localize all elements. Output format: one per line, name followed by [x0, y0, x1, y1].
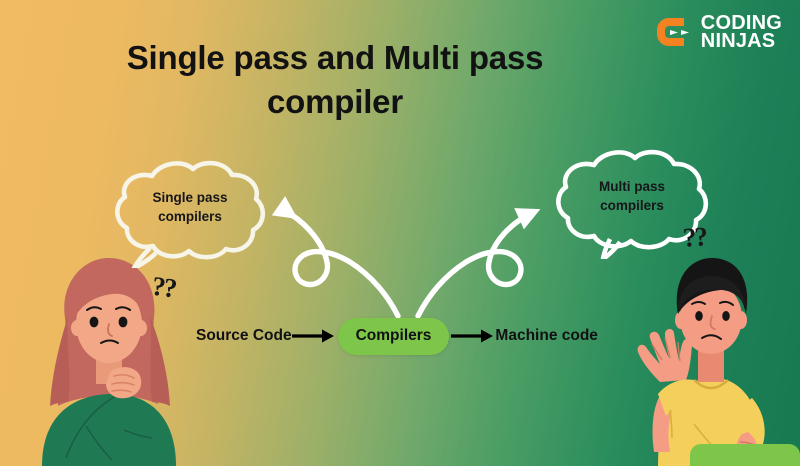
bubble-right-line1: Multi pass: [548, 177, 716, 196]
question-marks-left: ??: [150, 271, 177, 305]
bubble-left-label: Single pass compilers: [108, 188, 272, 226]
bubble-left-line1: Single pass: [108, 188, 272, 207]
arrow-right-icon: [451, 328, 495, 344]
arrow-right-icon: [292, 328, 336, 344]
ninja-c-mark-icon: [654, 12, 694, 52]
question-marks-right: ??: [682, 221, 707, 254]
logo-line-ninjas: NINJAS: [701, 32, 782, 50]
confused-boy-illustration: [628, 246, 794, 466]
source-code-label: Source Code: [196, 327, 292, 345]
machine-code-label: Machine code: [495, 327, 598, 345]
bubble-right-line2: compilers: [548, 196, 716, 215]
coding-ninjas-logo[interactable]: CODING NINJAS: [654, 12, 782, 52]
compiler-flow-diagram: Source Code Compilers Machine code: [196, 313, 616, 359]
curved-arrow-to-single-pass: [292, 215, 398, 316]
bubble-left-line2: compilers: [108, 207, 272, 226]
compilers-label: Compilers: [356, 327, 432, 344]
curved-arrow-to-multi-pass: [418, 212, 534, 316]
bottom-accent-bar: [690, 444, 800, 466]
thought-bubble-single-pass: Single pass compilers: [108, 156, 272, 268]
logo-wordmark: CODING NINJAS: [701, 14, 782, 51]
bubble-right-label: Multi pass compilers: [548, 177, 716, 215]
compilers-box[interactable]: Compilers: [338, 318, 450, 355]
infographic-canvas: Single pass compilers Multi pass compile…: [0, 0, 800, 466]
page-title: Single pass and Multi pass compiler: [100, 36, 570, 123]
